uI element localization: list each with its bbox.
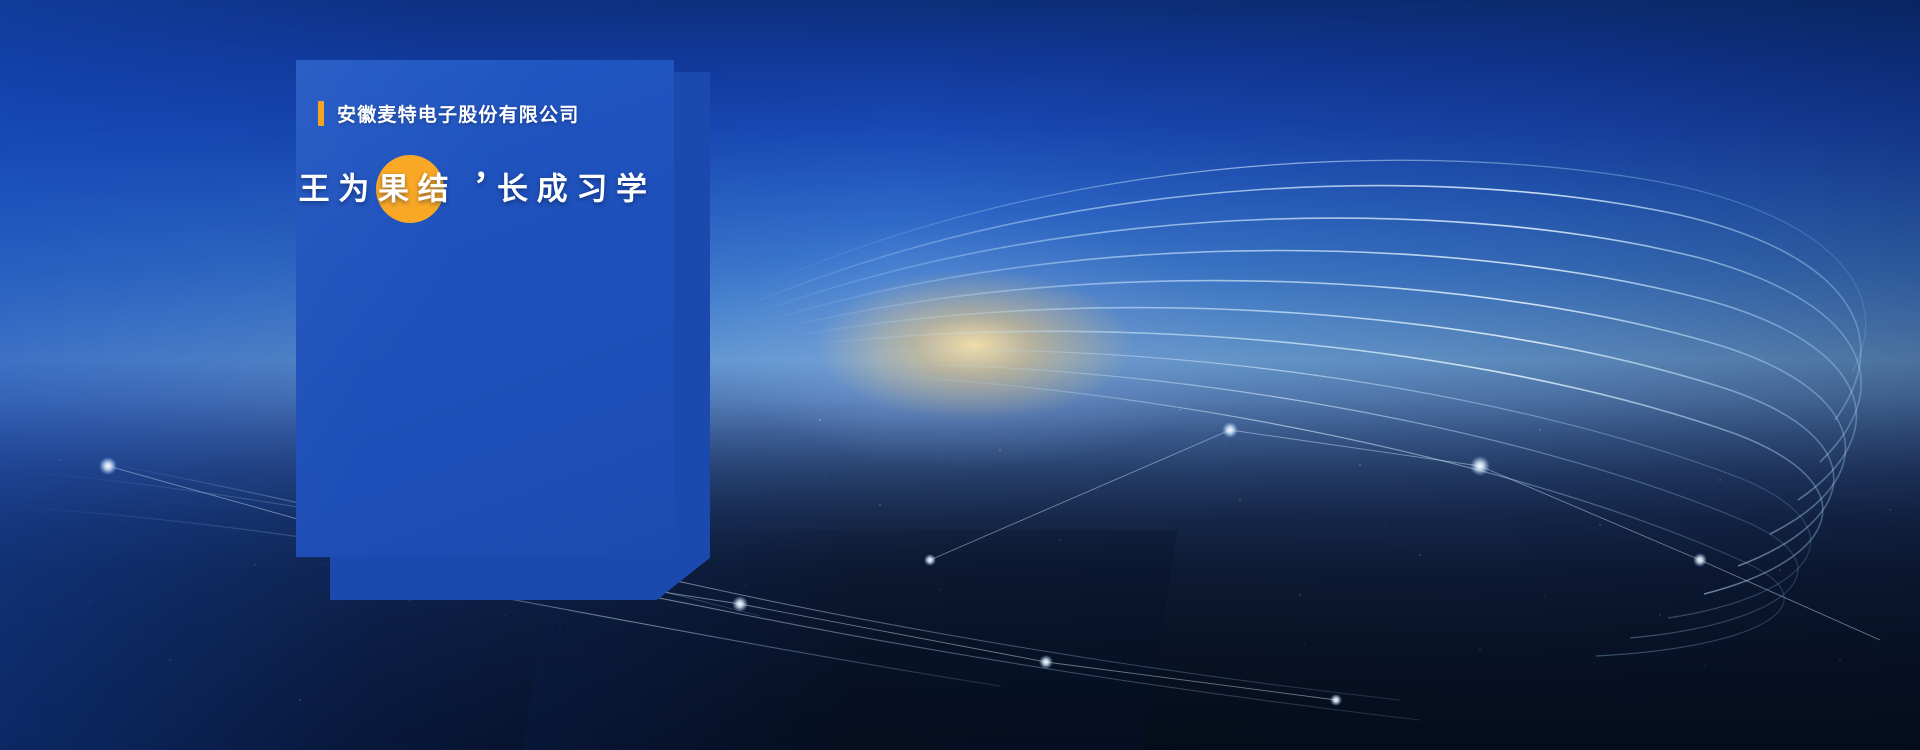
slogan-char: 果 <box>370 172 410 206</box>
slogan-columns: 学 习 成 长 ， 结 果 为 王 诚 实 守 信 <box>312 170 658 550</box>
slogan-highlight-badge: 结 果 <box>370 172 449 206</box>
slogan-char: 学 <box>608 172 648 206</box>
slogan-char: 长 <box>489 172 529 206</box>
network-arcs <box>0 0 1920 750</box>
slogan-char: 为 <box>331 172 371 206</box>
company-values-card: 安徽麦特电子股份有限公司 学 习 成 长 ， 结 果 为 王 <box>296 30 736 600</box>
card-title-row: 安徽麦特电子股份有限公司 <box>318 100 579 127</box>
banner-stage: 安徽麦特电子股份有限公司 学 习 成 长 ， 结 果 为 王 <box>0 0 1920 750</box>
slogan-column-learning-growth: 学 习 成 长 ， 结 果 为 王 <box>296 172 658 206</box>
slogan-char: 结 <box>410 172 450 206</box>
title-accent-bar <box>318 101 324 126</box>
slogan-char: 成 <box>529 172 569 206</box>
slogan-char: 习 <box>569 172 609 206</box>
slogan-char: ， <box>450 172 490 206</box>
card-panel: 安徽麦特电子股份有限公司 学 习 成 长 ， 结 果 为 王 <box>296 60 674 557</box>
slogan-char: 王 <box>296 172 331 206</box>
page-title: 安徽麦特电子股份有限公司 <box>337 100 579 127</box>
